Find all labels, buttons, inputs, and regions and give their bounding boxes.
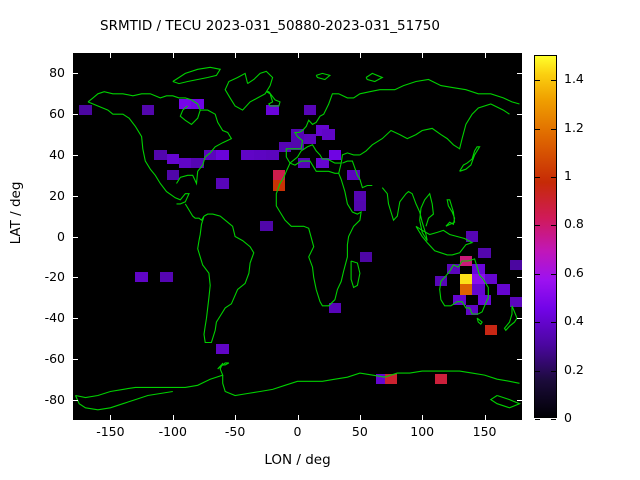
y-tick-mark bbox=[517, 196, 522, 197]
x-tick-label: -50 bbox=[205, 424, 265, 439]
page-title: SRMTID / TECU 2023-031_50880-2023-031_51… bbox=[0, 18, 540, 34]
colorbar-tick-label: 0.6 bbox=[564, 265, 584, 280]
x-tick-mark bbox=[298, 415, 299, 420]
y-tick-mark bbox=[73, 237, 78, 238]
y-tick-mark bbox=[517, 155, 522, 156]
x-tick-mark bbox=[235, 415, 236, 420]
colorbar-tick-mark bbox=[551, 419, 556, 420]
map-plot-area[interactable] bbox=[73, 53, 522, 420]
x-tick-label: 0 bbox=[268, 424, 328, 439]
y-tick-mark bbox=[73, 359, 78, 360]
y-tick-mark bbox=[517, 73, 522, 74]
colorbar-tick-mark bbox=[535, 225, 540, 226]
colorbar-tick-mark bbox=[535, 371, 540, 372]
y-tick-label: 80 bbox=[13, 65, 65, 80]
colorbar-tick-mark bbox=[551, 274, 556, 275]
colorbar-tick-label: 0.4 bbox=[564, 313, 584, 328]
colorbar-tick-label: 0.8 bbox=[564, 216, 584, 231]
y-tick-mark bbox=[73, 400, 78, 401]
x-tick-mark bbox=[485, 415, 486, 420]
colorbar-tick-mark bbox=[551, 322, 556, 323]
x-tick-mark bbox=[110, 53, 111, 58]
x-tick-label: 100 bbox=[392, 424, 452, 439]
colorbar-gradient bbox=[535, 56, 556, 417]
colorbar-tick-mark bbox=[535, 129, 540, 130]
colorbar-tick-mark bbox=[551, 129, 556, 130]
colorbar-tick-mark bbox=[551, 371, 556, 372]
x-axis-title: LON / deg bbox=[0, 452, 595, 468]
x-tick-label: 50 bbox=[330, 424, 390, 439]
colorbar-tick-mark bbox=[535, 322, 540, 323]
y-tick-mark bbox=[517, 359, 522, 360]
colorbar-tick-label: 1.4 bbox=[564, 71, 584, 86]
x-tick-mark bbox=[422, 415, 423, 420]
y-axis-title: LAT / deg bbox=[8, 153, 24, 273]
x-tick-label: -150 bbox=[80, 424, 140, 439]
y-tick-mark bbox=[73, 114, 78, 115]
colorbar-tick-label: 0 bbox=[564, 410, 572, 425]
colorbar-tick-mark bbox=[535, 177, 540, 178]
colorbar-tick-mark bbox=[551, 80, 556, 81]
x-tick-mark bbox=[422, 53, 423, 58]
colorbar-tick-label: 1.2 bbox=[564, 120, 584, 135]
y-tick-mark bbox=[517, 277, 522, 278]
x-tick-mark bbox=[360, 53, 361, 58]
tick-layer bbox=[73, 53, 522, 420]
x-tick-mark bbox=[485, 53, 486, 58]
y-tick-mark bbox=[517, 114, 522, 115]
figure-canvas: SRMTID / TECU 2023-031_50880-2023-031_51… bbox=[0, 0, 640, 480]
y-tick-mark bbox=[517, 237, 522, 238]
colorbar-tick-label: 0.2 bbox=[564, 362, 584, 377]
y-tick-mark bbox=[73, 277, 78, 278]
x-tick-mark bbox=[173, 415, 174, 420]
y-tick-mark bbox=[73, 196, 78, 197]
x-tick-mark bbox=[235, 53, 236, 58]
y-tick-mark bbox=[517, 318, 522, 319]
colorbar-tick-mark bbox=[535, 419, 540, 420]
y-tick-label: -40 bbox=[13, 310, 65, 325]
x-tick-mark bbox=[173, 53, 174, 58]
y-tick-mark bbox=[73, 73, 78, 74]
x-tick-label: -100 bbox=[143, 424, 203, 439]
y-tick-mark bbox=[517, 400, 522, 401]
x-tick-mark bbox=[298, 53, 299, 58]
y-tick-label: -60 bbox=[13, 351, 65, 366]
colorbar[interactable] bbox=[534, 55, 557, 418]
colorbar-tick-mark bbox=[535, 274, 540, 275]
colorbar-tick-mark bbox=[551, 177, 556, 178]
colorbar-tick-label: 1 bbox=[564, 168, 572, 183]
y-tick-mark bbox=[73, 155, 78, 156]
colorbar-tick-mark bbox=[535, 80, 540, 81]
y-tick-label: 60 bbox=[13, 106, 65, 121]
x-tick-mark bbox=[110, 415, 111, 420]
x-tick-mark bbox=[360, 415, 361, 420]
y-tick-mark bbox=[73, 318, 78, 319]
x-tick-label: 150 bbox=[455, 424, 515, 439]
colorbar-tick-mark bbox=[551, 225, 556, 226]
y-tick-label: -80 bbox=[13, 392, 65, 407]
